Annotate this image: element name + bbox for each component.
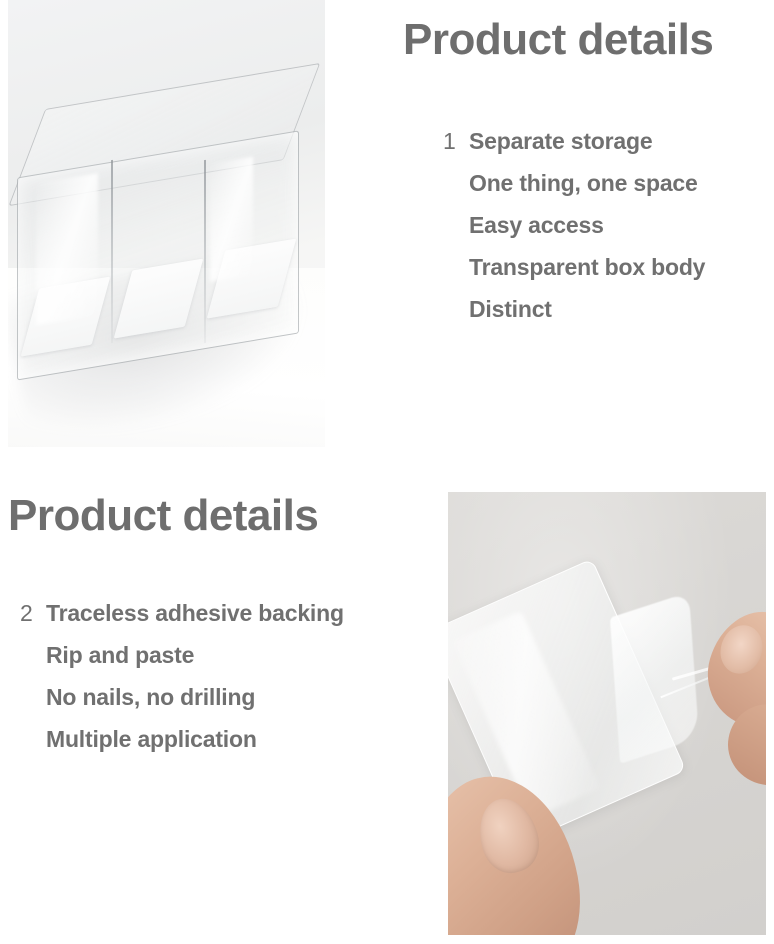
feature-list-1: 1 Separate storage One thing, one space … — [443, 128, 705, 338]
acrylic-highlight-1 — [36, 173, 98, 324]
list-item: No nails, no drilling — [20, 684, 344, 726]
feature-label: One thing, one space — [469, 170, 698, 197]
list-item: Rip and paste — [20, 642, 344, 684]
peeled-liner-flap — [610, 592, 699, 763]
acrylic-highlight-2 — [210, 157, 253, 282]
compartment-divider-2 — [204, 160, 206, 343]
page-title-1: Product details — [403, 18, 713, 62]
feature-label: No nails, no drilling — [46, 684, 255, 711]
feature-label: Traceless adhesive backing — [46, 600, 344, 627]
feature-label: Distinct — [469, 296, 552, 323]
transparent-three-compartment-storage-box-photo — [8, 0, 325, 447]
feature-label: Rip and paste — [46, 642, 194, 669]
list-item: Distinct — [443, 296, 705, 338]
acrylic-box — [11, 89, 322, 384]
adhesive-strip-peeling-photo — [448, 492, 766, 935]
page-title-2: Product details — [8, 494, 318, 538]
feature-number: 2 — [20, 600, 46, 627]
feature-label: Separate storage — [469, 128, 652, 155]
feature-label: Multiple application — [46, 726, 257, 753]
compartment-divider-1 — [111, 160, 113, 343]
feature-number: 1 — [443, 128, 469, 155]
feature-label: Easy access — [469, 212, 604, 239]
feature-list-2: 2 Traceless adhesive backing Rip and pas… — [20, 600, 344, 768]
list-item: Easy access — [443, 212, 705, 254]
list-item: 2 Traceless adhesive backing — [20, 600, 344, 642]
feature-label: Transparent box body — [469, 254, 705, 281]
list-item: 1 Separate storage — [443, 128, 705, 170]
list-item: Transparent box body — [443, 254, 705, 296]
list-item: Multiple application — [20, 726, 344, 768]
list-item: One thing, one space — [443, 170, 705, 212]
